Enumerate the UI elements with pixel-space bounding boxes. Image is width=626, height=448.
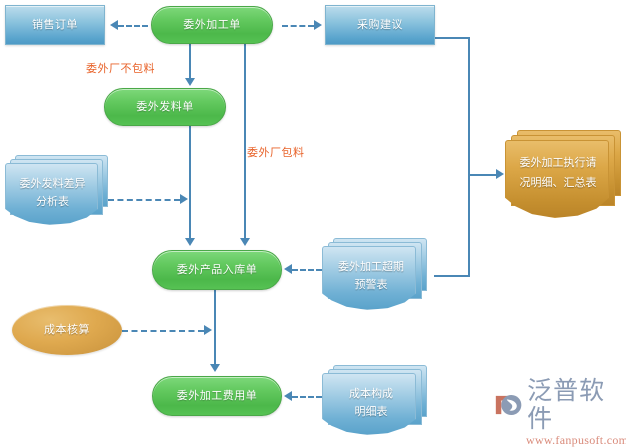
fanpu-logo-icon	[494, 390, 523, 420]
arrowhead-variance-report	[180, 194, 188, 204]
annotation-no-material: 委外厂不包料	[86, 60, 155, 76]
node-purchase-suggestion[interactable]: 采购建议	[325, 5, 435, 45]
node-sales-order[interactable]: 销售订单	[5, 5, 105, 45]
connector-bracket-top	[434, 37, 470, 39]
arrowhead-issue-to-receipt	[185, 238, 195, 246]
node-product-receipt-label: 委外产品入库单	[177, 262, 258, 278]
arrowhead-overdue-to-receipt	[284, 264, 292, 274]
connector-order-to-receipt-with-material	[244, 44, 246, 242]
connector-receipt-to-fee	[214, 290, 216, 368]
connector-order-to-purchase	[282, 25, 314, 27]
node-material-issue-label: 委外发料单	[136, 99, 194, 115]
report-sheet-front	[322, 373, 416, 435]
node-outsourcing-order[interactable]: 委外加工单	[151, 6, 273, 44]
fanpu-logo-url: www.fanpusoft.com	[526, 433, 626, 448]
arrowhead-to-purchase-suggestion	[314, 20, 322, 30]
connector-bracket-bottom	[434, 275, 470, 277]
node-material-issue[interactable]: 委外发料单	[104, 88, 226, 126]
connector-bracket-to-report	[468, 174, 498, 176]
arrowhead-cost-accounting	[204, 325, 212, 335]
connector-cost-accounting	[122, 330, 204, 332]
annotation-with-material: 委外厂包料	[247, 144, 305, 160]
fanpu-logo[interactable]: 泛普软件 www.fanpusoft.com	[494, 377, 626, 448]
arrowhead-to-material-issue	[185, 78, 195, 86]
arrowhead-to-execution-report	[496, 169, 504, 179]
connector-variance-report	[108, 199, 180, 201]
flowchart-canvas: 委外厂不包料 委外厂包料 销售订单 委外加工单 采购建议 委外发料单 委外产品入…	[0, 0, 626, 435]
report-sheet-front	[505, 140, 609, 218]
report-sheet-front	[5, 163, 98, 225]
connector-overdue-to-receipt	[292, 269, 322, 271]
arrowhead-to-sales-order	[110, 20, 118, 30]
connector-issue-to-receipt	[189, 126, 191, 242]
node-purchase-suggestion-label: 采购建议	[357, 17, 403, 33]
node-cost-accounting-label: 成本核算	[44, 322, 90, 338]
connector-order-to-sales	[118, 25, 148, 27]
node-processing-fee-label: 委外加工费用单	[177, 388, 258, 404]
report-cost-structure[interactable]: 成本构成 明细表	[322, 365, 430, 435]
arrowhead-cost-structure-to-fee	[284, 391, 292, 401]
connector-bracket-spine	[468, 37, 470, 277]
arrowhead-receipt-to-fee	[210, 364, 220, 372]
report-execution-detail[interactable]: 委外加工执行请 况明细、汇总表	[505, 130, 623, 218]
fanpu-logo-name: 泛普软件	[527, 377, 626, 433]
arrowhead-order-to-receipt	[240, 238, 250, 246]
report-issue-variance[interactable]: 委外发料差异 分析表	[5, 155, 108, 225]
report-overdue-warning[interactable]: 委外加工超期 预警表	[322, 238, 430, 310]
node-processing-fee[interactable]: 委外加工费用单	[152, 376, 282, 416]
report-sheet-front	[322, 246, 416, 310]
node-outsourcing-order-label: 委外加工单	[183, 17, 241, 33]
node-cost-accounting[interactable]: 成本核算	[12, 305, 122, 355]
node-product-receipt[interactable]: 委外产品入库单	[152, 250, 282, 290]
connector-order-to-issue	[189, 44, 191, 80]
node-sales-order-label: 销售订单	[32, 17, 78, 33]
connector-cost-structure-to-fee	[292, 396, 322, 398]
